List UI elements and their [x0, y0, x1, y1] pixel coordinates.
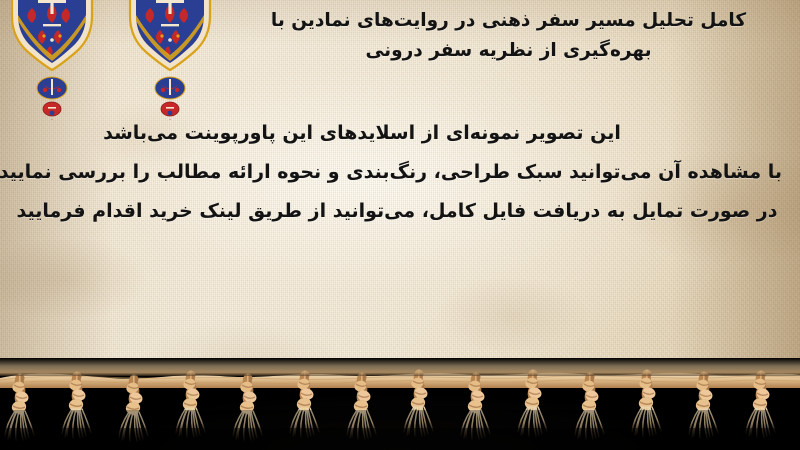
slide-canvas: کامل تحلیل مسیر سفر ذهنی در روایت‌های نم… [0, 0, 800, 450]
carpet-fringe-icon [0, 358, 800, 450]
slide-body-line-2: با مشاهده آن می‌توانید سبک طراحی، رنگ‌بن… [8, 153, 788, 192]
slide-body-line-3: در صورت تمایل به دریافت فایل کامل، می‌تو… [8, 192, 788, 231]
slide-title: کامل تحلیل مسیر سفر ذهنی در روایت‌های نم… [231, 6, 786, 66]
slide-title-line-2: بهره‌گیری از نظریه سفر درونی [231, 36, 786, 66]
slide-body: این تصویر نمونه‌ای از اسلایدهای این پاور… [8, 114, 788, 231]
slide-body-line-1: این تصویر نمونه‌ای از اسلایدهای این پاور… [8, 114, 788, 153]
carpet-fringe-band [0, 358, 800, 450]
slide-title-line-1: کامل تحلیل مسیر سفر ذهنی در روایت‌های نم… [231, 6, 786, 36]
